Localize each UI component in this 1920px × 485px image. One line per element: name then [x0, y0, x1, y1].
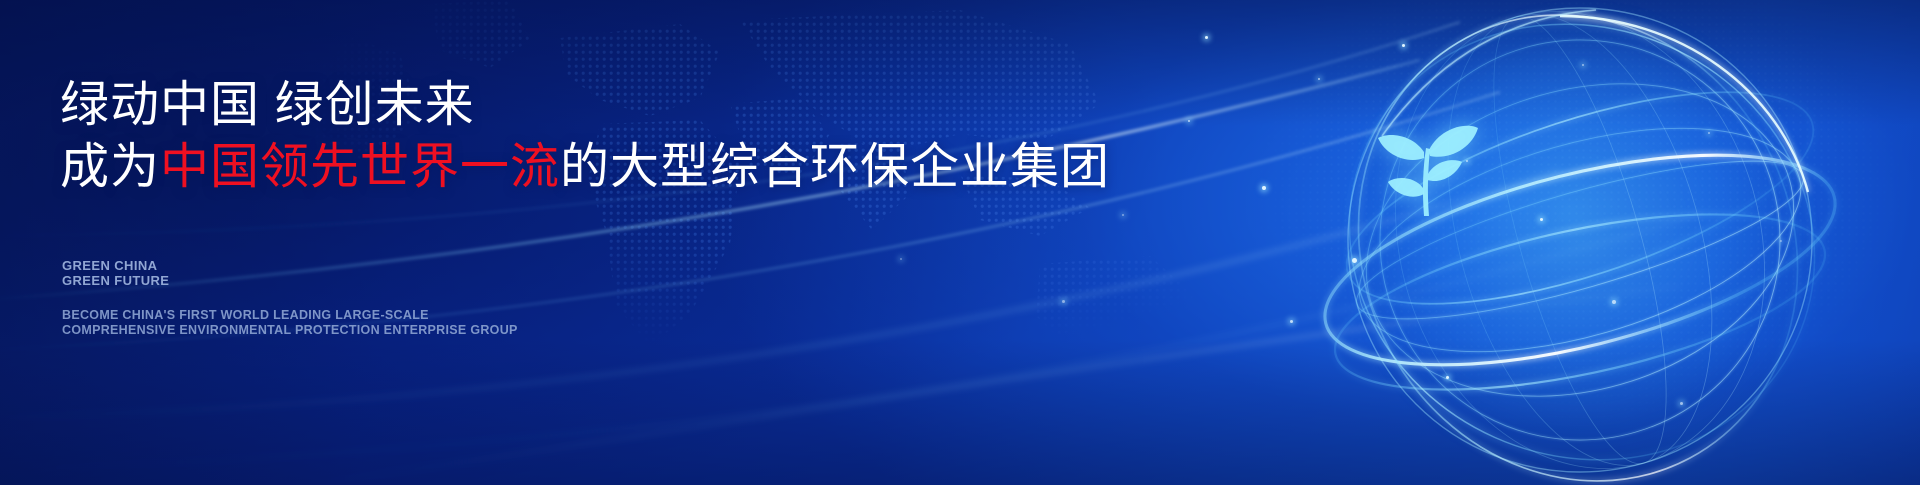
- hero-banner: 绿动中国 绿创未来 成为中国领先世界一流的大型综合环保企业集团 GREEN CH…: [0, 0, 1920, 485]
- tagline-line-2: COMPREHENSIVE ENVIRONMENTAL PROTECTION E…: [62, 323, 518, 338]
- tagline-line-1: BECOME CHINA'S FIRST WORLD LEADING LARGE…: [62, 308, 518, 323]
- subtitle-line-2: GREEN FUTURE: [62, 273, 169, 288]
- headline-line-2: 成为中国领先世界一流的大型综合环保企业集团: [60, 136, 1110, 198]
- headline-line-2-prefix: 成为: [60, 140, 160, 194]
- copy-block: 绿动中国 绿创未来 成为中国领先世界一流的大型综合环保企业集团 GREEN CH…: [60, 0, 1060, 485]
- headline-line-1: 绿动中国 绿创未来: [60, 74, 1110, 136]
- headline: 绿动中国 绿创未来 成为中国领先世界一流的大型综合环保企业集团: [60, 74, 1110, 198]
- tagline-english: BECOME CHINA'S FIRST WORLD LEADING LARGE…: [62, 308, 518, 337]
- subtitle-line-1: GREEN CHINA: [62, 258, 169, 273]
- headline-line-2-highlight: 中国领先世界一流: [160, 140, 560, 194]
- headline-line-2-suffix: 的大型综合环保企业集团: [560, 140, 1110, 194]
- subtitle-english: GREEN CHINA GREEN FUTURE: [62, 258, 169, 288]
